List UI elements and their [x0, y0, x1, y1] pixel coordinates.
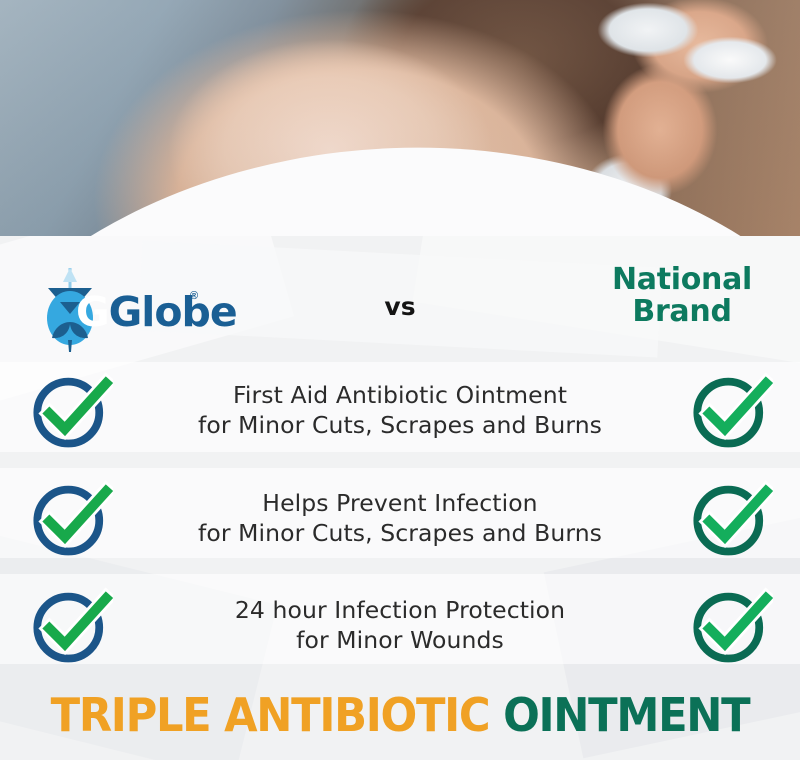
globe-check-circle-icon — [27, 475, 113, 561]
national-brand-label: National Brand — [592, 264, 772, 329]
national-brand-line2: Brand — [592, 296, 772, 328]
feature-text-3: 24 hour Infection Protection for Minor W… — [150, 594, 650, 654]
national-brand-line1: National — [592, 264, 772, 296]
infographic-root: GGlobe ® vs National Brand First Aid Ant… — [0, 0, 800, 760]
feature-3-line2: for Minor Wounds — [150, 625, 650, 655]
national-check-circle-icon — [687, 582, 773, 668]
product-title-part1: TRIPLE ANTIBIOTIC — [51, 688, 490, 742]
product-title-part2: OINTMENT — [503, 688, 749, 742]
feature-row-2: Helps Prevent Infection for Minor Cuts, … — [0, 465, 800, 570]
feature-row-1: First Aid Antibiotic Ointment for Minor … — [0, 357, 800, 462]
feature-1-line1: First Aid Antibiotic Ointment — [150, 379, 650, 409]
feature-row-3: 24 hour Infection Protection for Minor W… — [0, 572, 800, 677]
globe-check-circle-icon — [27, 582, 113, 668]
feature-1-line2: for Minor Cuts, Scrapes and Burns — [150, 410, 650, 440]
feature-text-1: First Aid Antibiotic Ointment for Minor … — [150, 379, 650, 439]
feature-3-line1: 24 hour Infection Protection — [150, 594, 650, 624]
globe-check-circle-icon — [27, 367, 113, 453]
national-check-circle-icon — [687, 367, 773, 453]
feature-2-line2: for Minor Cuts, Scrapes and Burns — [150, 518, 650, 548]
brand-header-row: GGlobe ® vs National Brand — [0, 252, 800, 362]
hero-photo-section — [0, 0, 800, 250]
feature-text-2: Helps Prevent Infection for Minor Cuts, … — [150, 487, 650, 547]
national-check-circle-icon — [687, 475, 773, 561]
feature-2-line1: Helps Prevent Infection — [150, 487, 650, 517]
product-title: TRIPLE ANTIBIOTIC OINTMENT — [24, 692, 776, 738]
